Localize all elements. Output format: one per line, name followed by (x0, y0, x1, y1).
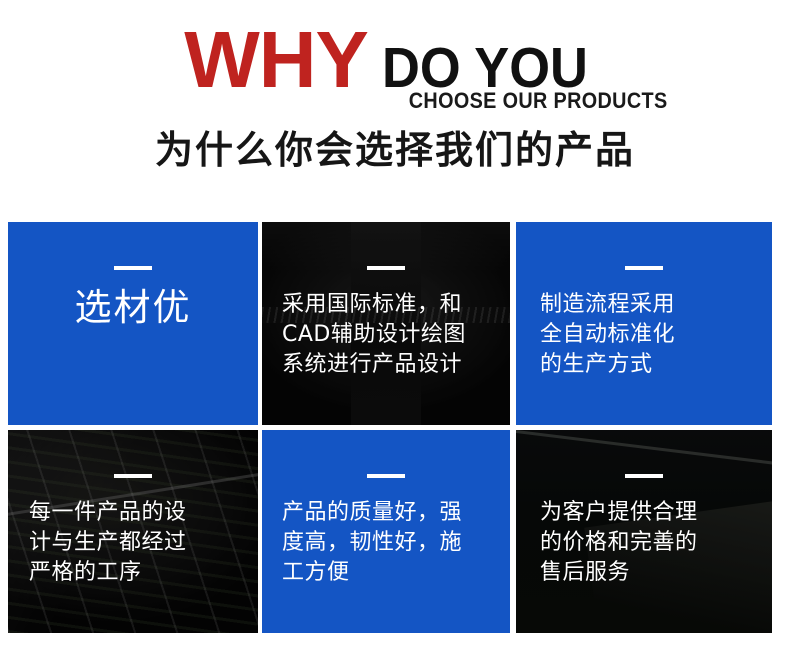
accent-divider (625, 266, 663, 270)
accent-divider (114, 266, 152, 270)
headline-why: WHY (184, 15, 368, 104)
feature-card-strict-process: 每一件产品的设 计与生产都经过 严格的工序 (8, 430, 258, 633)
headline-subtitle-cn: 为什么你会选择我们的产品 (0, 126, 790, 174)
feature-card-price-after-sales: 为客户提供合理 的价格和完善的 售后服务 (516, 430, 772, 633)
accent-divider (367, 266, 405, 270)
feature-text: 采用国际标准，和 CAD辅助设计绘图 系统进行产品设计 (282, 290, 490, 380)
feature-text: 制造流程采用 全自动标准化 的生产方式 (540, 290, 748, 380)
headline-subtitle-en: CHOOSE OUR PRODUCTS (409, 88, 668, 114)
feature-grid: 选材优 采用国际标准，和 CAD辅助设计绘图 系统进行产品设计 制造流程采用 全… (8, 222, 772, 633)
feature-text: 为客户提供合理 的价格和完善的 售后服务 (540, 498, 748, 588)
feature-card-international-standard-cad: 采用国际标准，和 CAD辅助设计绘图 系统进行产品设计 (262, 222, 510, 425)
feature-text: 选材优 (8, 286, 258, 330)
feature-card-material-selection: 选材优 (8, 222, 258, 425)
accent-divider (367, 474, 405, 478)
accent-divider (625, 474, 663, 478)
headline-block: WHYDO YOU (0, 18, 790, 110)
feature-text: 每一件产品的设 计与生产都经过 严格的工序 (29, 498, 237, 588)
feature-card-automated-manufacturing: 制造流程采用 全自动标准化 的生产方式 (516, 222, 772, 425)
accent-divider (114, 474, 152, 478)
feature-text: 产品的质量好，强 度高，韧性好，施 工方便 (282, 498, 490, 588)
feature-card-quality-strength: 产品的质量好，强 度高，韧性好，施 工方便 (262, 430, 510, 633)
promo-header: WHYDO YOU CHOOSE OUR PRODUCTS 为什么你会选择我们的… (0, 0, 790, 222)
